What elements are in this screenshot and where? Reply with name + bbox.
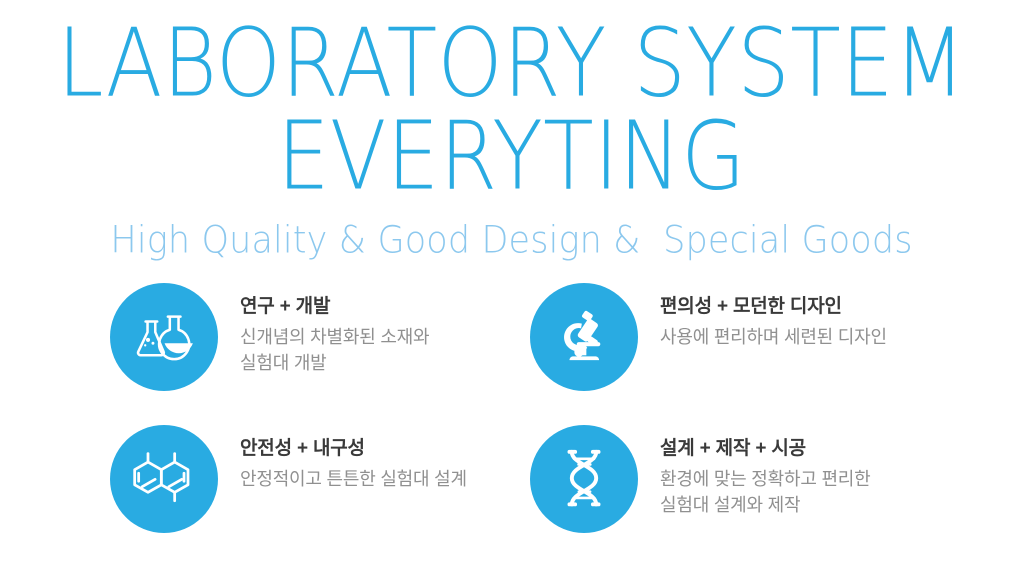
feature-title: 설계 + 제작 + 시공 — [660, 437, 870, 461]
dna-icon-circle — [530, 425, 638, 533]
feature-description-line: 신개념의 차별화된 소재와 — [240, 324, 429, 351]
feature-text-research-development: 연구 + 개발 신개념의 차별화된 소재와 실험대 개발 — [218, 283, 429, 377]
feature-item-design-manufacture-construction: 설계 + 제작 + 시공 환경에 맞는 정확하고 편리한 실험대 설계와 제작 — [530, 425, 870, 533]
feature-title: 안전성 + 내구성 — [240, 437, 467, 461]
feature-title: 연구 + 개발 — [240, 295, 429, 319]
feature-text-safety-durability: 안전성 + 내구성 안정적이고 튼튼한 실험대 설계 — [218, 425, 467, 492]
page-title-line-1: LABORATORY SYSTEM — [8, 18, 1016, 108]
promotional-poster: LABORATORY SYSTEM EVERYTING High Quality… — [0, 0, 1023, 566]
feature-text-design-manufacture-construction: 설계 + 제작 + 시공 환경에 맞는 정확하고 편리한 실험대 설계와 제작 — [638, 425, 870, 519]
microscope-icon — [555, 308, 613, 366]
flasks-icon-circle — [110, 283, 218, 391]
feature-description: 사용에 편리하며 세련된 디자인 — [660, 324, 887, 351]
feature-description: 안정적이고 튼튼한 실험대 설계 — [240, 466, 467, 493]
feature-description-line: 실험대 설계와 제작 — [660, 492, 870, 519]
feature-description-line: 환경에 맞는 정확하고 편리한 — [660, 466, 870, 493]
headline-block: LABORATORY SYSTEM EVERYTING High Quality… — [0, 18, 1023, 261]
molecule-icon-circle — [110, 425, 218, 533]
page-title-line-2: EVERYTING — [8, 111, 1016, 201]
page-subtitle: High Quality & Good Design & Special Goo… — [0, 220, 1023, 262]
feature-title: 편의성 + 모던한 디자인 — [660, 295, 887, 319]
feature-description-line: 실험대 개발 — [240, 350, 429, 377]
feature-description-line: 안정적이고 튼튼한 실험대 설계 — [240, 466, 467, 493]
feature-description: 신개념의 차별화된 소재와 실험대 개발 — [240, 324, 429, 377]
feature-text-convenience-modern-design: 편의성 + 모던한 디자인 사용에 편리하며 세련된 디자인 — [638, 283, 887, 350]
feature-grid: 연구 + 개발 신개념의 차별화된 소재와 실험대 개발 — [0, 283, 1023, 553]
dna-icon — [557, 449, 611, 509]
feature-description: 환경에 맞는 정확하고 편리한 실험대 설계와 제작 — [660, 466, 870, 519]
feature-item-convenience-modern-design: 편의성 + 모던한 디자인 사용에 편리하며 세련된 디자인 — [530, 283, 887, 391]
feature-description-line: 사용에 편리하며 세련된 디자인 — [660, 324, 887, 351]
molecule-icon — [132, 450, 196, 508]
flasks-icon — [133, 306, 195, 368]
feature-item-safety-durability: 안전성 + 내구성 안정적이고 튼튼한 실험대 설계 — [110, 425, 467, 533]
microscope-icon-circle — [530, 283, 638, 391]
feature-item-research-development: 연구 + 개발 신개념의 차별화된 소재와 실험대 개발 — [110, 283, 429, 391]
